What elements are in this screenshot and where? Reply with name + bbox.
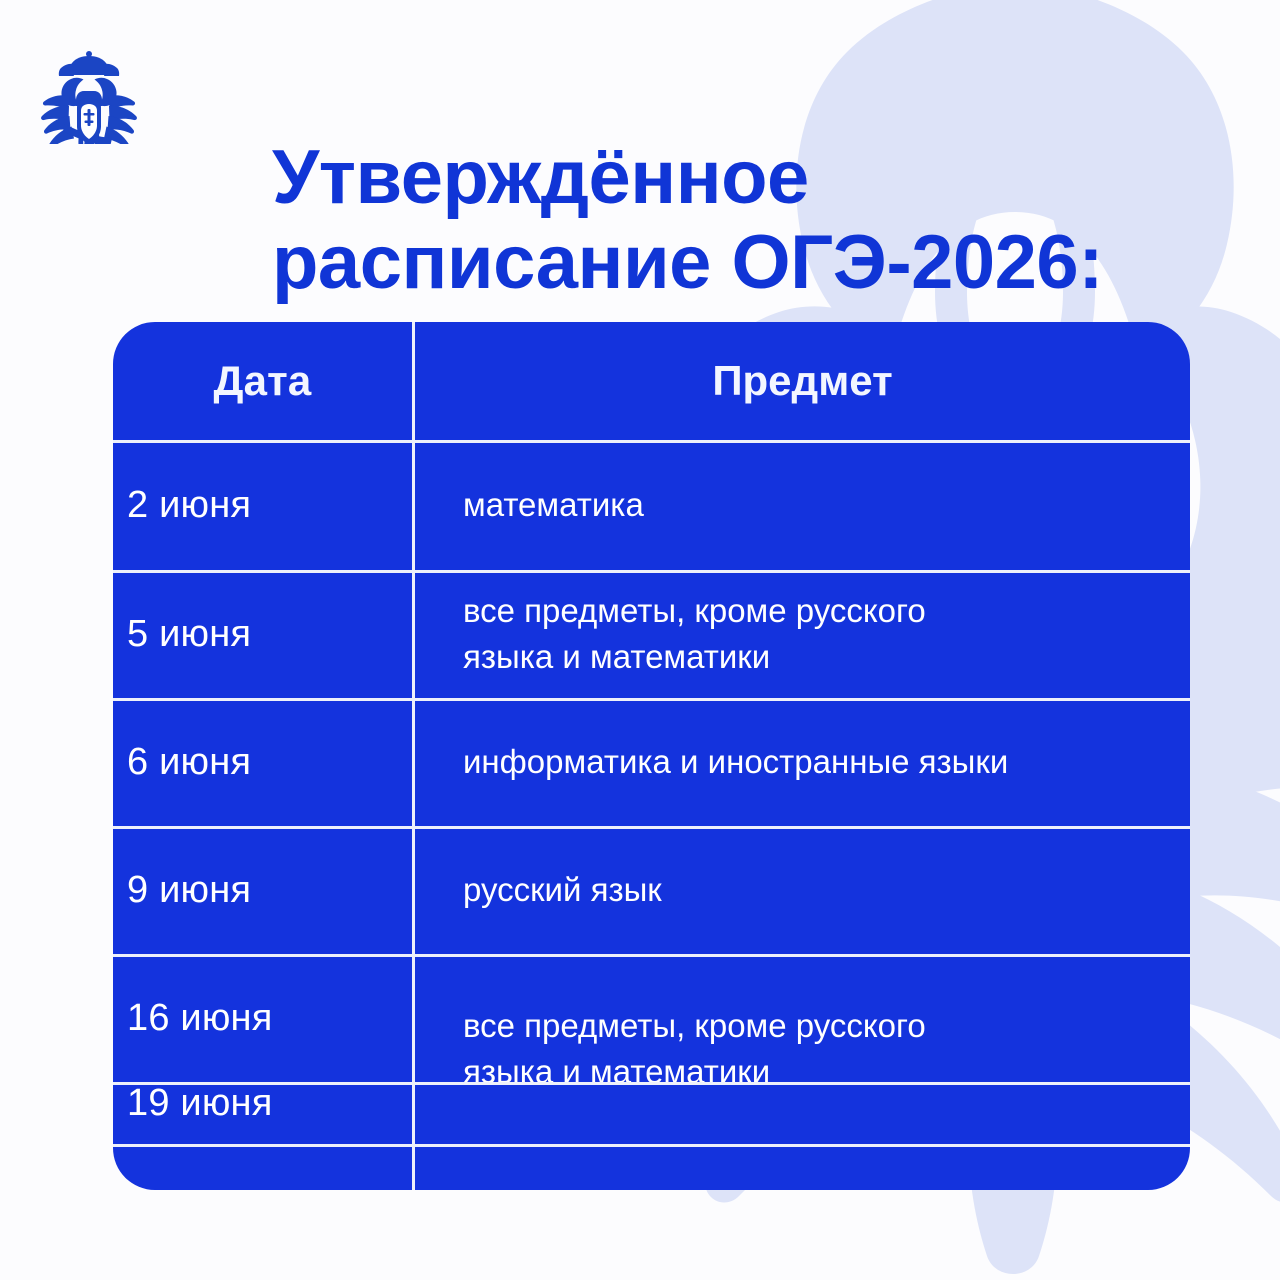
table-row: 2 июня — [113, 440, 412, 570]
table-row: 19 июня — [113, 1082, 412, 1144]
table-row: 16 июня — [113, 954, 412, 1082]
table-merged-subject: все предметы, кроме русского языка и мат… — [415, 954, 1190, 1144]
table-row: все предметы, кроме русского языка и мат… — [415, 570, 1190, 698]
table-row-divider — [113, 1144, 1190, 1147]
table-row: информатика и иностранные языки — [415, 698, 1190, 826]
page-title: Утверждённое расписание ОГЭ-2026: — [272, 135, 1232, 305]
organization-logo — [36, 48, 142, 144]
table-row: 9 июня — [113, 826, 412, 954]
schedule-table: Дата Предмет 2 июня математика 5 июня вс… — [113, 322, 1190, 1190]
table-row: 6 июня — [113, 698, 412, 826]
table-row: математика — [415, 440, 1190, 570]
rosobrnadzor-eagle-emblem-icon — [36, 48, 142, 144]
table-row: 5 июня — [113, 570, 412, 698]
table-header-date: Дата — [113, 322, 412, 440]
table-header-subject: Предмет — [415, 322, 1190, 440]
table-row: русский язык — [415, 826, 1190, 954]
table-column-divider — [412, 322, 415, 1190]
